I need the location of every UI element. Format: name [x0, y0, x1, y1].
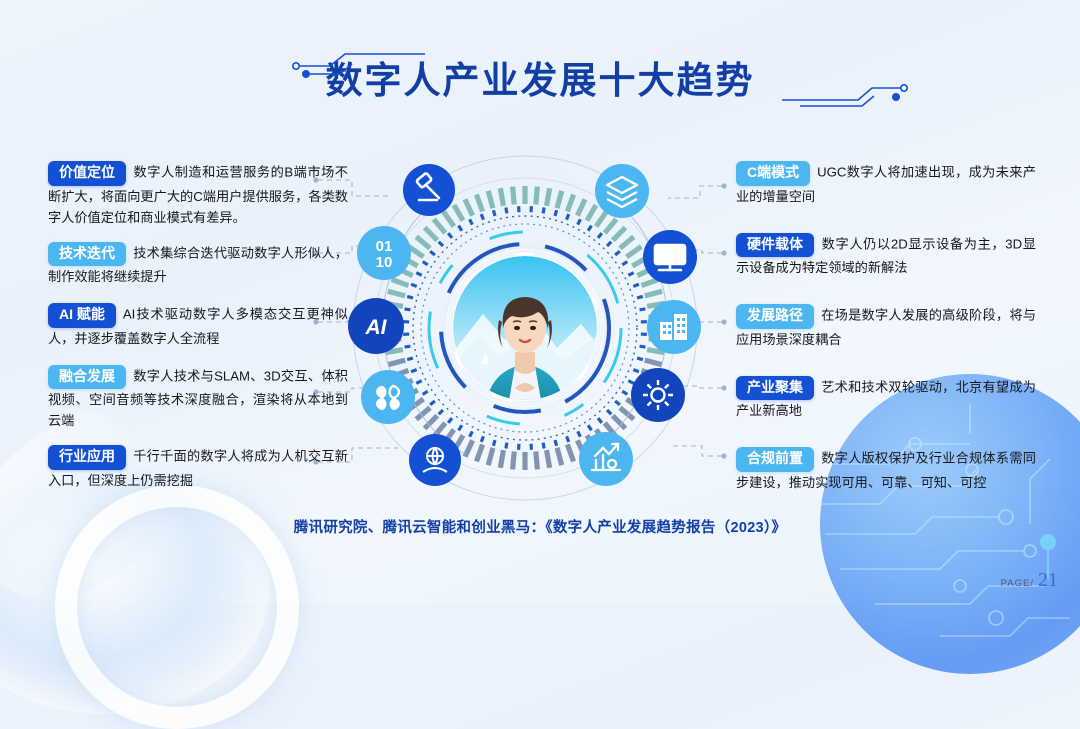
trend-badge: 发展路径 [736, 304, 814, 329]
page-title-bar: 数字人产业发展十大趋势 [0, 48, 1080, 112]
page-label: PAGE/ [1001, 578, 1034, 589]
source-citation: 腾讯研究院、腾讯云智能和创业黑马：《数字人产业发展趋势报告（2023）》 [0, 516, 1080, 537]
trend-text: 合规前置数字人版权保护及行业合规体系需同步建设，推动实现可用、可靠、可知、可控 [736, 447, 1036, 493]
trend-item: 合规前置数字人版权保护及行业合规体系需同步建设，推动实现可用、可靠、可知、可控 [736, 447, 1036, 493]
trend-item: AI 赋能AI技术驱动数字人多模态交互更神似人，并逐步覆盖数字人全流程 [48, 303, 348, 349]
trend-badge: 硬件载体 [736, 233, 814, 258]
trend-text: 价值定位数字人制造和运营服务的B端市场不断扩大，将面向更广大的C端用户提供服务，… [48, 161, 348, 228]
trend-text: 技术迭代技术集综合迭代驱动数字人形似人，制作效能将继续提升 [48, 242, 348, 288]
trend-text: 行业应用千行千面的数字人将成为人机交互新入口，但深度上仍需挖掘 [48, 445, 348, 491]
svg-text:01: 01 [376, 238, 393, 255]
trend-item: 价值定位数字人制造和运营服务的B端市场不断扩大，将面向更广大的C端用户提供服务，… [48, 161, 348, 228]
right-trend-list: C端模式UGC数字人将加速出现，成为未来产业的增量空间 硬件载体数字人仍以2D显… [736, 148, 1036, 509]
trend-item: C端模式UGC数字人将加速出现，成为未来产业的增量空间 [736, 161, 1036, 207]
trend-badge: AI 赋能 [48, 303, 116, 328]
trend-item: 发展路径在场是数字人发展的高级阶段，将与应用场景深度耦合 [736, 304, 1036, 350]
trend-text: 发展路径在场是数字人发展的高级阶段，将与应用场景深度耦合 [736, 304, 1036, 350]
trend-text: 融合发展数字人技术与SLAM、3D交互、体积视频、空间音频等技术深度融合，渲染将… [48, 365, 348, 432]
trend-item: 行业应用千行千面的数字人将成为人机交互新入口，但深度上仍需挖掘 [48, 445, 348, 491]
trend-badge: C端模式 [736, 161, 810, 186]
trend-text: 硬件载体数字人仍以2D显示设备为主，3D显示设备成为特定领域的新解法 [736, 233, 1036, 279]
trend-badge: 产业聚集 [736, 376, 814, 401]
trend-item: 产业聚集艺术和技术双轮驱动，北京有望成为产业新高地 [736, 376, 1036, 422]
trend-item: 硬件载体数字人仍以2D显示设备为主，3D显示设备成为特定领域的新解法 [736, 233, 1036, 279]
trend-badge: 技术迭代 [48, 242, 126, 267]
svg-text:AI: AI [365, 316, 388, 339]
left-trend-list: 价值定位数字人制造和运营服务的B端市场不断扩大，将面向更广大的C端用户提供服务，… [48, 148, 348, 507]
trend-item: 融合发展数字人技术与SLAM、3D交互、体积视频、空间音频等技术深度融合，渲染将… [48, 365, 348, 432]
trend-text: 产业聚集艺术和技术双轮驱动，北京有望成为产业新高地 [736, 376, 1036, 422]
trend-item: 技术迭代技术集综合迭代驱动数字人形似人，制作效能将继续提升 [48, 242, 348, 288]
page-title: 数字人产业发展十大趋势 [326, 62, 755, 99]
page-number: 21 [1038, 569, 1058, 592]
svg-text:10: 10 [376, 254, 393, 271]
trend-badge: 行业应用 [48, 445, 126, 470]
trend-badge: 合规前置 [736, 447, 814, 472]
central-hub: 01 10 AI [345, 148, 705, 508]
trend-text: AI 赋能AI技术驱动数字人多模态交互更神似人，并逐步覆盖数字人全流程 [48, 303, 348, 349]
slide-root: 数字人产业发展十大趋势 [0, 0, 1080, 604]
trend-text: C端模式UGC数字人将加速出现，成为未来产业的增量空间 [736, 161, 1036, 207]
page-indicator: PAGE/ 21 [1001, 569, 1058, 592]
trend-badge: 融合发展 [48, 365, 126, 390]
trend-badge: 价值定位 [48, 161, 126, 186]
